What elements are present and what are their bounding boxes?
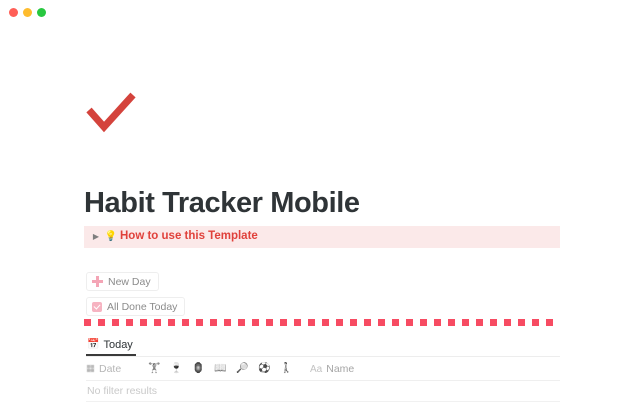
- chevron-right-icon[interactable]: ▶: [89, 233, 103, 241]
- page-title[interactable]: Habit Tracker Mobile: [84, 184, 360, 222]
- column-header-drink[interactable]: 🍷: [170, 364, 192, 374]
- calendar-grid-icon: ▦: [86, 364, 95, 374]
- wine-glass-icon: 🍷: [170, 364, 182, 374]
- tab-today-label: Today: [103, 339, 132, 351]
- traffic-lights: [9, 8, 46, 17]
- page-icon-checkmark-icon[interactable]: [86, 92, 138, 136]
- table-empty-state: No filter results: [86, 381, 560, 402]
- calendar-icon: 📅: [87, 340, 99, 350]
- column-header-name-label: Name: [326, 363, 354, 375]
- all-done-today-button-label: All Done Today: [107, 301, 177, 313]
- tab-today[interactable]: 📅 Today: [86, 335, 136, 356]
- new-day-button-label: New Day: [108, 276, 151, 288]
- dashed-divider: [84, 319, 560, 326]
- how-to-use-toggle-block[interactable]: ▶ 💡 How to use this Template: [84, 226, 560, 248]
- page-canvas: Habit Tracker Mobile ▶ 💡 How to use this…: [0, 26, 640, 400]
- lantern-icon: 🏮: [192, 364, 204, 374]
- column-header-read[interactable]: 📖: [214, 364, 236, 374]
- table-header-row: ▦ Date 🏋 🍷 🏮 📖 🔎 ⚽ 🚶: [86, 357, 560, 381]
- toggle-label: How to use this Template: [120, 231, 258, 243]
- window-title-bar: [0, 0, 640, 26]
- column-header-name[interactable]: Aa Name: [310, 363, 354, 375]
- search-icon: 🔎: [236, 364, 248, 374]
- book-icon: 📖: [214, 364, 226, 374]
- minimize-button[interactable]: [23, 8, 32, 17]
- column-header-date-label: Date: [99, 363, 121, 375]
- close-button[interactable]: [9, 8, 18, 17]
- column-header-meditate[interactable]: 🏮: [192, 364, 214, 374]
- people-walking-icon: 🚶: [280, 364, 292, 374]
- column-header-study[interactable]: 🔎: [236, 364, 258, 374]
- database-view: 📅 Today ▦ Date 🏋 🍷 🏮 📖 🔎: [86, 334, 560, 402]
- column-header-sport[interactable]: ⚽: [258, 364, 280, 374]
- new-day-button[interactable]: New Day: [86, 272, 159, 291]
- column-header-date[interactable]: ▦ Date: [86, 363, 148, 375]
- maximize-button[interactable]: [37, 8, 46, 17]
- dumbbell-icon: 🏋: [148, 364, 160, 374]
- checkbox-checked-icon: [92, 302, 102, 312]
- column-header-workout[interactable]: 🏋: [148, 364, 170, 374]
- lightbulb-icon: 💡: [103, 232, 119, 242]
- column-header-walk[interactable]: 🚶: [280, 364, 302, 374]
- all-done-today-button[interactable]: All Done Today: [86, 297, 185, 316]
- text-icon: Aa: [310, 364, 322, 375]
- database-view-tabs: 📅 Today: [86, 334, 560, 357]
- ball-icon: ⚽: [258, 364, 270, 374]
- plus-icon: [92, 276, 103, 287]
